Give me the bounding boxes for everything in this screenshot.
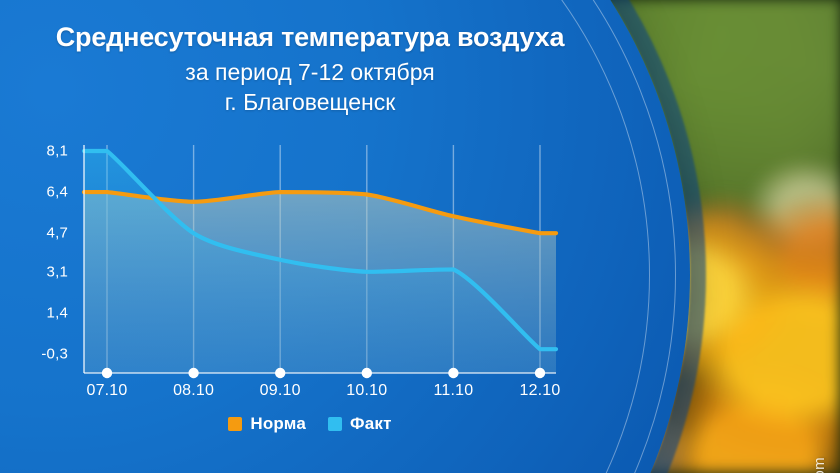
y-axis-tick-label: 4,7 [18, 225, 68, 242]
x-axis-tick-label: 12.10 [505, 382, 575, 400]
y-axis-tick-label: 6,4 [18, 184, 68, 201]
x-axis-tick-label: 09.10 [245, 382, 315, 400]
chart-legend: Норма Факт [0, 414, 620, 434]
x-axis-tick-label: 07.10 [72, 382, 142, 400]
x-axis-tick-label: 08.10 [159, 382, 229, 400]
legend-label-fakt: Факт [350, 414, 392, 434]
x-axis-tick-label: 11.10 [418, 382, 488, 400]
legend-item-fakt[interactable]: Факт [328, 414, 392, 434]
temperature-chart: 8,16,44,73,11,4-0,3 07.1008.1009.1010.10… [0, 0, 620, 473]
legend-swatch-norma [228, 417, 242, 431]
y-axis-tick-label: 8,1 [18, 143, 68, 160]
x-axis-tick-label: 10.10 [332, 382, 402, 400]
y-axis-tick-label: 3,1 [18, 263, 68, 280]
slide-canvas: wallpapers.com Среднесуточная температур… [0, 0, 840, 473]
y-axis-tick-label: -0,3 [18, 346, 68, 363]
watermark-label: wallpapers.com [811, 457, 828, 473]
legend-swatch-fakt [328, 417, 342, 431]
chart-plot-area [0, 0, 620, 473]
series-area-fills [84, 151, 556, 373]
y-axis-tick-label: 1,4 [18, 304, 68, 321]
legend-item-norma[interactable]: Норма [228, 414, 306, 434]
legend-label-norma: Норма [250, 414, 306, 434]
